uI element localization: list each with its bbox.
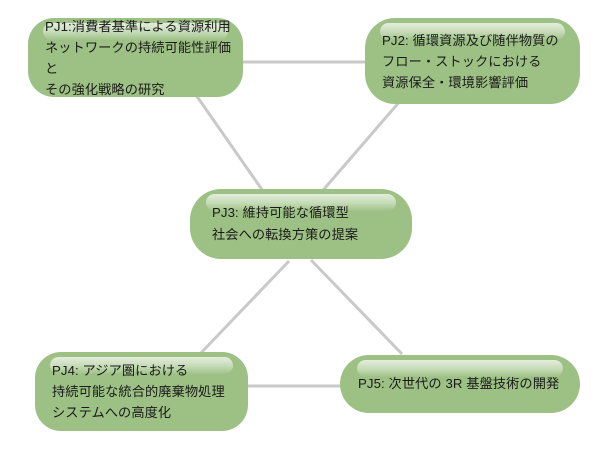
node-pj3-label: PJ3: 維持可能な循環型 社会への転換方策の提案 — [212, 202, 358, 246]
node-pj1-label: PJ1:消費者基準による資源利用 ネットワークの持続可能性評価と その強化戦略の… — [45, 18, 243, 97]
node-pj5-label: PJ5: 次世代の 3R 基盤技術の開発 — [358, 373, 559, 395]
node-pj3[interactable]: PJ3: 維持可能な循環型 社会への転換方策の提案 — [190, 189, 412, 259]
node-pj5[interactable]: PJ5: 次世代の 3R 基盤技術の開発 — [340, 355, 580, 413]
node-pj2-label: PJ2: 循環資源及び随伴物質の フロー・ストックにおける 資源保全・環境影響評… — [382, 30, 559, 93]
connector-pj1-pj3 — [196, 95, 272, 204]
node-pj2[interactable]: PJ2: 循環資源及び随伴物質の フロー・ストックにおける 資源保全・環境影響評… — [365, 18, 580, 104]
node-pj4-label: PJ4: アジア圏における 持続可能な統合的廃棄物処理 システムへの高度化 — [52, 360, 225, 423]
node-pj1[interactable]: PJ1:消費者基準による資源利用 ネットワークの持続可能性評価と その強化戦略の… — [28, 18, 243, 97]
connector-pj2-pj3 — [318, 100, 401, 196]
connector-pj3-pj5 — [311, 260, 402, 354]
diagram-canvas: PJ1:消費者基準による資源利用 ネットワークの持続可能性評価と その強化戦略の… — [0, 0, 600, 450]
node-pj4[interactable]: PJ4: アジア圏における 持続可能な統合的廃棄物処理 システムへの高度化 — [35, 352, 248, 431]
connector-pj3-pj4 — [199, 261, 289, 355]
